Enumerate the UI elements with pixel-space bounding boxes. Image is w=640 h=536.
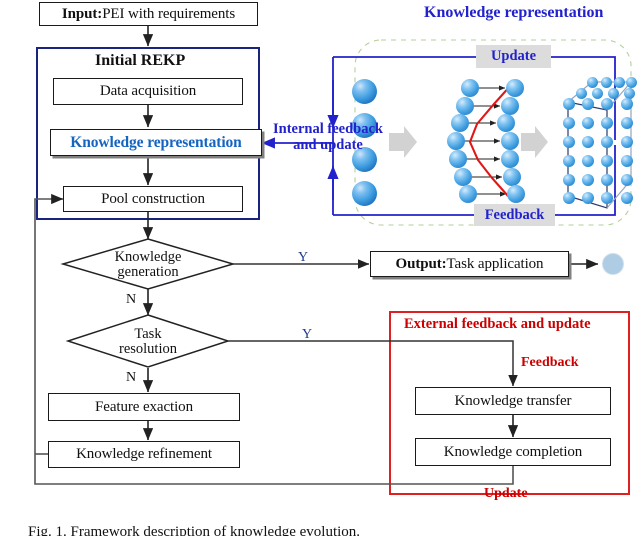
kr-network-node [447,132,465,150]
output-box[interactable]: Output: Task application [370,251,569,277]
conn-tr-yes-to-transfer [228,341,513,386]
feedback-chip: Feedback [474,204,555,226]
input-box[interactable]: Input: PEI with requirements [39,2,258,26]
chevron-arrow-2 [521,126,548,158]
feature-exaction-box[interactable]: Feature exaction [48,393,240,421]
diamond-task-resolution [68,315,228,367]
kr-network-node [507,185,525,203]
kr-lattice-node [621,117,633,129]
branch-label-tr-yes: Y [302,327,312,343]
kr-input-node [352,181,377,206]
kr-network-node [501,97,519,115]
kr-network-node [501,150,519,168]
kr-lattice-node [563,174,575,186]
kr-lattice-node [563,136,575,148]
external-panel-title: External feedback and update [404,316,591,333]
kr-lattice-node [601,98,613,110]
knowledge-transfer-label: Knowledge transfer [455,393,572,410]
kr-lattice-node [601,192,613,204]
kr-lattice-node [601,174,613,186]
kr-network-node [451,114,469,132]
branch-label-tr-no: N [126,370,136,386]
kr-lattice-node [582,192,594,204]
kr-lattice-node [592,88,603,99]
initial-rekp-title: Initial REKP [95,52,185,70]
kr-network-node [501,132,519,150]
external-update-label: Update [484,486,528,502]
kr-lattice-node [563,117,575,129]
pool-construction-box[interactable]: Pool construction [63,186,243,212]
data-acquisition-box[interactable]: Data acquisition [53,78,243,105]
kr-lattice-node [601,77,612,88]
kr-network-node [506,79,524,97]
knowledge-refinement-label: Knowledge refinement [76,446,212,463]
kr-network-node [449,150,467,168]
terminator-circle [602,253,624,275]
kr-lattice-node [582,98,594,110]
data-acquisition-label: Data acquisition [100,83,196,100]
kr-lattice-node [563,155,575,167]
kr-network-node [503,168,521,186]
kr-lattice-node [582,117,594,129]
diamond-knowledge-generation [63,239,233,289]
kr-input-node [352,79,377,104]
kr-section-title: Knowledge representation [424,4,603,22]
update-chip: Update [476,45,551,68]
internal-feedback-label: Internal feedback and update [266,121,390,153]
knowledge-refinement-box[interactable]: Knowledge refinement [48,441,240,468]
kr-lattice-node [601,155,613,167]
kr-network-node [497,114,515,132]
kr-lattice-node [621,136,633,148]
knowledge-completion-label: Knowledge completion [444,444,582,461]
kr-lattice-node [614,77,625,88]
pool-construction-label: Pool construction [101,191,205,208]
kr-lattice-node [582,136,594,148]
branch-label-kg-no: N [126,292,136,308]
kr-lattice-node [563,98,575,110]
input-box-rest: PEI with requirements [102,6,235,23]
kr-lattice-node [587,77,598,88]
chevron-arrow-1 [389,126,417,158]
knowledge-completion-box[interactable]: Knowledge completion [415,438,611,466]
kr-network-node [461,79,479,97]
feature-exaction-label: Feature exaction [95,399,193,416]
internal-feedback-line2: and update [266,137,390,153]
kr-lattice-node [601,136,613,148]
kr-lattice-node [608,88,619,99]
kr-lattice-node [621,155,633,167]
kr-lattice-node [626,77,637,88]
knowledge-representation-box[interactable]: Knowledge representation [50,129,262,156]
branch-label-kg-yes: Y [298,250,308,266]
kr-network-node [456,97,474,115]
kr-lattice-node [563,192,575,204]
internal-feedback-line1: Internal feedback [266,121,390,137]
output-box-rest: Task application [447,256,544,273]
knowledge-representation-label: Knowledge representation [70,134,241,152]
kr-lattice-node [621,98,633,110]
output-box-bold: Output: [396,256,447,273]
external-feedback-label: Feedback [521,355,579,371]
kr-network-node [459,185,477,203]
figure-caption: Fig. 1. Framework description of knowled… [28,523,618,536]
kr-lattice-node [601,117,613,129]
kr-network-node [454,168,472,186]
kr-lattice-node [582,174,594,186]
kr-lattice-node [621,192,633,204]
kr-lattice-node [582,155,594,167]
knowledge-transfer-box[interactable]: Knowledge transfer [415,387,611,415]
figure-root: Knowledge representation Input: PEI with… [0,0,640,536]
input-box-bold: Input: [62,6,102,23]
kr-lattice-node [621,174,633,186]
